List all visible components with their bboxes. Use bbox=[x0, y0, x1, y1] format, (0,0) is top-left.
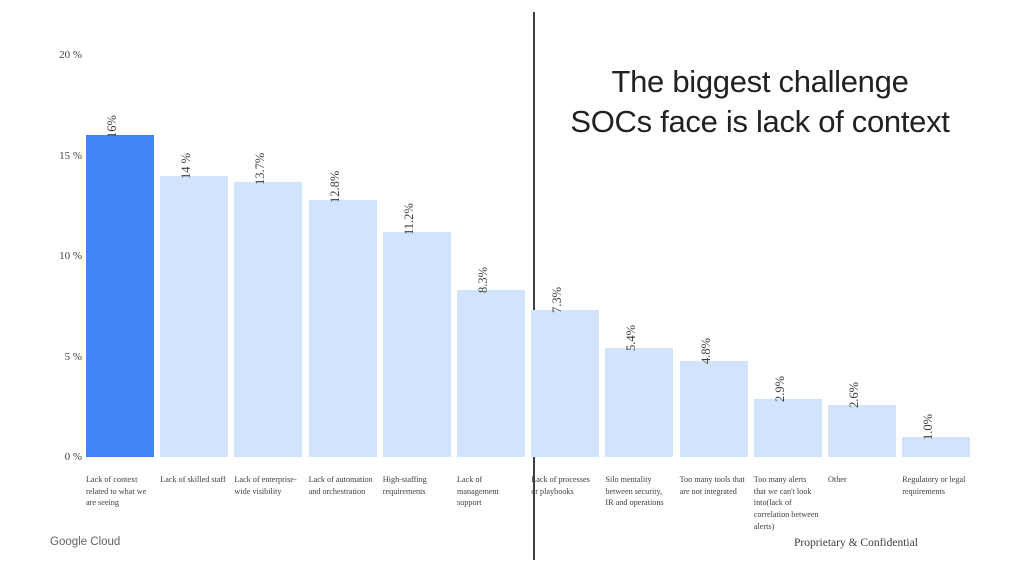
y-axis-tick: 5 % bbox=[36, 351, 82, 363]
bar-value-label: 13.7% bbox=[253, 152, 268, 184]
bar-group[interactable]: 4.8%Too many tools that are not integrat… bbox=[680, 0, 748, 568]
bar-series: 16%Lack of context related to what we ar… bbox=[86, 0, 994, 568]
x-axis-category-label: Lack of management support bbox=[457, 474, 523, 509]
bar-value-label: 11.2% bbox=[402, 203, 417, 235]
x-axis-category-label: Too many alerts that we can't look into(… bbox=[754, 474, 820, 532]
x-axis-category-label: Lack of enterprise-wide visibility bbox=[234, 474, 300, 497]
x-axis-category-label: High-staffing requirements bbox=[383, 474, 449, 497]
y-axis: 0 %5 %10 %15 %20 % bbox=[24, 0, 82, 568]
bar[interactable] bbox=[605, 348, 673, 457]
bar-group[interactable]: 11.2%High-staffing requirements bbox=[383, 0, 451, 568]
bar-value-label: 4.8% bbox=[699, 337, 714, 363]
slide-canvas: The biggest challenge SOCs face is lack … bbox=[0, 0, 1024, 568]
bar[interactable] bbox=[680, 361, 748, 457]
x-axis-category-label: Lack of automation and orchestration bbox=[309, 474, 375, 497]
x-axis-category-label: Lack of skilled staff bbox=[160, 474, 226, 486]
bar-value-label: 5.4% bbox=[624, 325, 639, 351]
x-axis-category-label: Lack of context related to what we are s… bbox=[86, 474, 152, 509]
bar-value-label: 1.0% bbox=[921, 414, 936, 440]
bar-value-label: 2.9% bbox=[773, 376, 788, 402]
bar[interactable] bbox=[457, 290, 525, 457]
bar-value-label: 7.3% bbox=[550, 287, 565, 313]
bar[interactable] bbox=[234, 182, 302, 457]
bar-group[interactable]: 2.6%Other bbox=[828, 0, 896, 568]
bar-group[interactable]: 2.9%Too many alerts that we can't look i… bbox=[754, 0, 822, 568]
bar-group[interactable]: 14 %Lack of skilled staff bbox=[160, 0, 228, 568]
bar-group[interactable]: 13.7%Lack of enterprise-wide visibility bbox=[234, 0, 302, 568]
bar[interactable] bbox=[902, 437, 970, 457]
x-axis-category-label: Lack of processes or playbooks bbox=[531, 474, 597, 497]
bar[interactable] bbox=[309, 200, 377, 457]
bar-value-label: 16% bbox=[105, 115, 120, 138]
y-axis-tick: 0 % bbox=[36, 451, 82, 463]
bar-chart: 0 %5 %10 %15 %20 % 16%Lack of context re… bbox=[0, 0, 1024, 568]
y-axis-tick: 10 % bbox=[36, 250, 82, 262]
bar[interactable] bbox=[160, 176, 228, 457]
bar-group[interactable]: 16%Lack of context related to what we ar… bbox=[86, 0, 154, 568]
y-axis-tick: 15 % bbox=[36, 150, 82, 162]
bar[interactable] bbox=[828, 405, 896, 457]
bar[interactable] bbox=[754, 399, 822, 457]
bar-group[interactable]: 1.0%Regulatory or legal requirements bbox=[902, 0, 970, 568]
bar-value-label: 14 % bbox=[179, 153, 194, 179]
bar[interactable] bbox=[383, 232, 451, 457]
bar-group[interactable]: 5.4%Silo mentality between security, IR … bbox=[605, 0, 673, 568]
bar-group[interactable]: 7.3%Lack of processes or playbooks bbox=[531, 0, 599, 568]
x-axis-category-label: Other bbox=[828, 474, 894, 486]
bar-highlighted[interactable] bbox=[86, 135, 154, 457]
x-axis-category-label: Too many tools that are not integrated bbox=[680, 474, 746, 497]
y-axis-tick: 20 % bbox=[36, 49, 82, 61]
bar-value-label: 12.8% bbox=[328, 170, 343, 202]
footer-brand: Google Cloud bbox=[50, 536, 120, 548]
bar-group[interactable]: 12.8%Lack of automation and orchestratio… bbox=[309, 0, 377, 568]
x-axis-category-label: Regulatory or legal requirements bbox=[902, 474, 968, 497]
bar-value-label: 8.3% bbox=[476, 267, 491, 293]
bar[interactable] bbox=[531, 310, 599, 457]
bar-value-label: 2.6% bbox=[847, 382, 862, 408]
bar-group[interactable]: 8.3%Lack of management support bbox=[457, 0, 525, 568]
footer-confidentiality: Proprietary & Confidential bbox=[794, 537, 918, 549]
x-axis-category-label: Silo mentality between security, IR and … bbox=[605, 474, 671, 509]
